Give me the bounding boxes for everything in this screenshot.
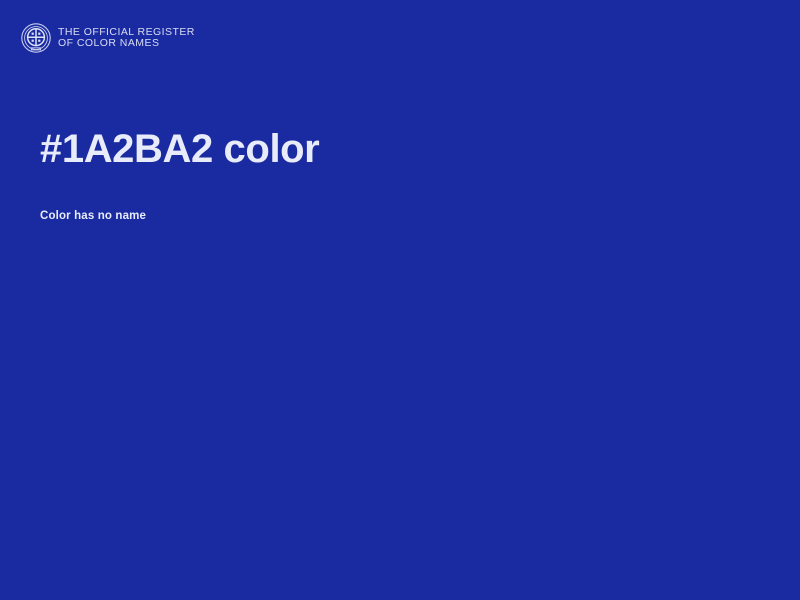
main-content: #1A2BA2 color Color has no name	[40, 126, 740, 222]
site-header[interactable]: THE OFFICIAL REGISTER OF COLOR NAMES	[20, 22, 195, 54]
brand-wordmark: THE OFFICIAL REGISTER OF COLOR NAMES	[58, 27, 195, 50]
color-detail-page: THE OFFICIAL REGISTER OF COLOR NAMES #1A…	[0, 0, 800, 600]
wordmark-line-2: OF COLOR NAMES	[58, 38, 195, 49]
register-seal-icon	[20, 22, 52, 54]
color-name-status: Color has no name	[40, 172, 740, 222]
page-title: #1A2BA2 color	[40, 126, 740, 172]
